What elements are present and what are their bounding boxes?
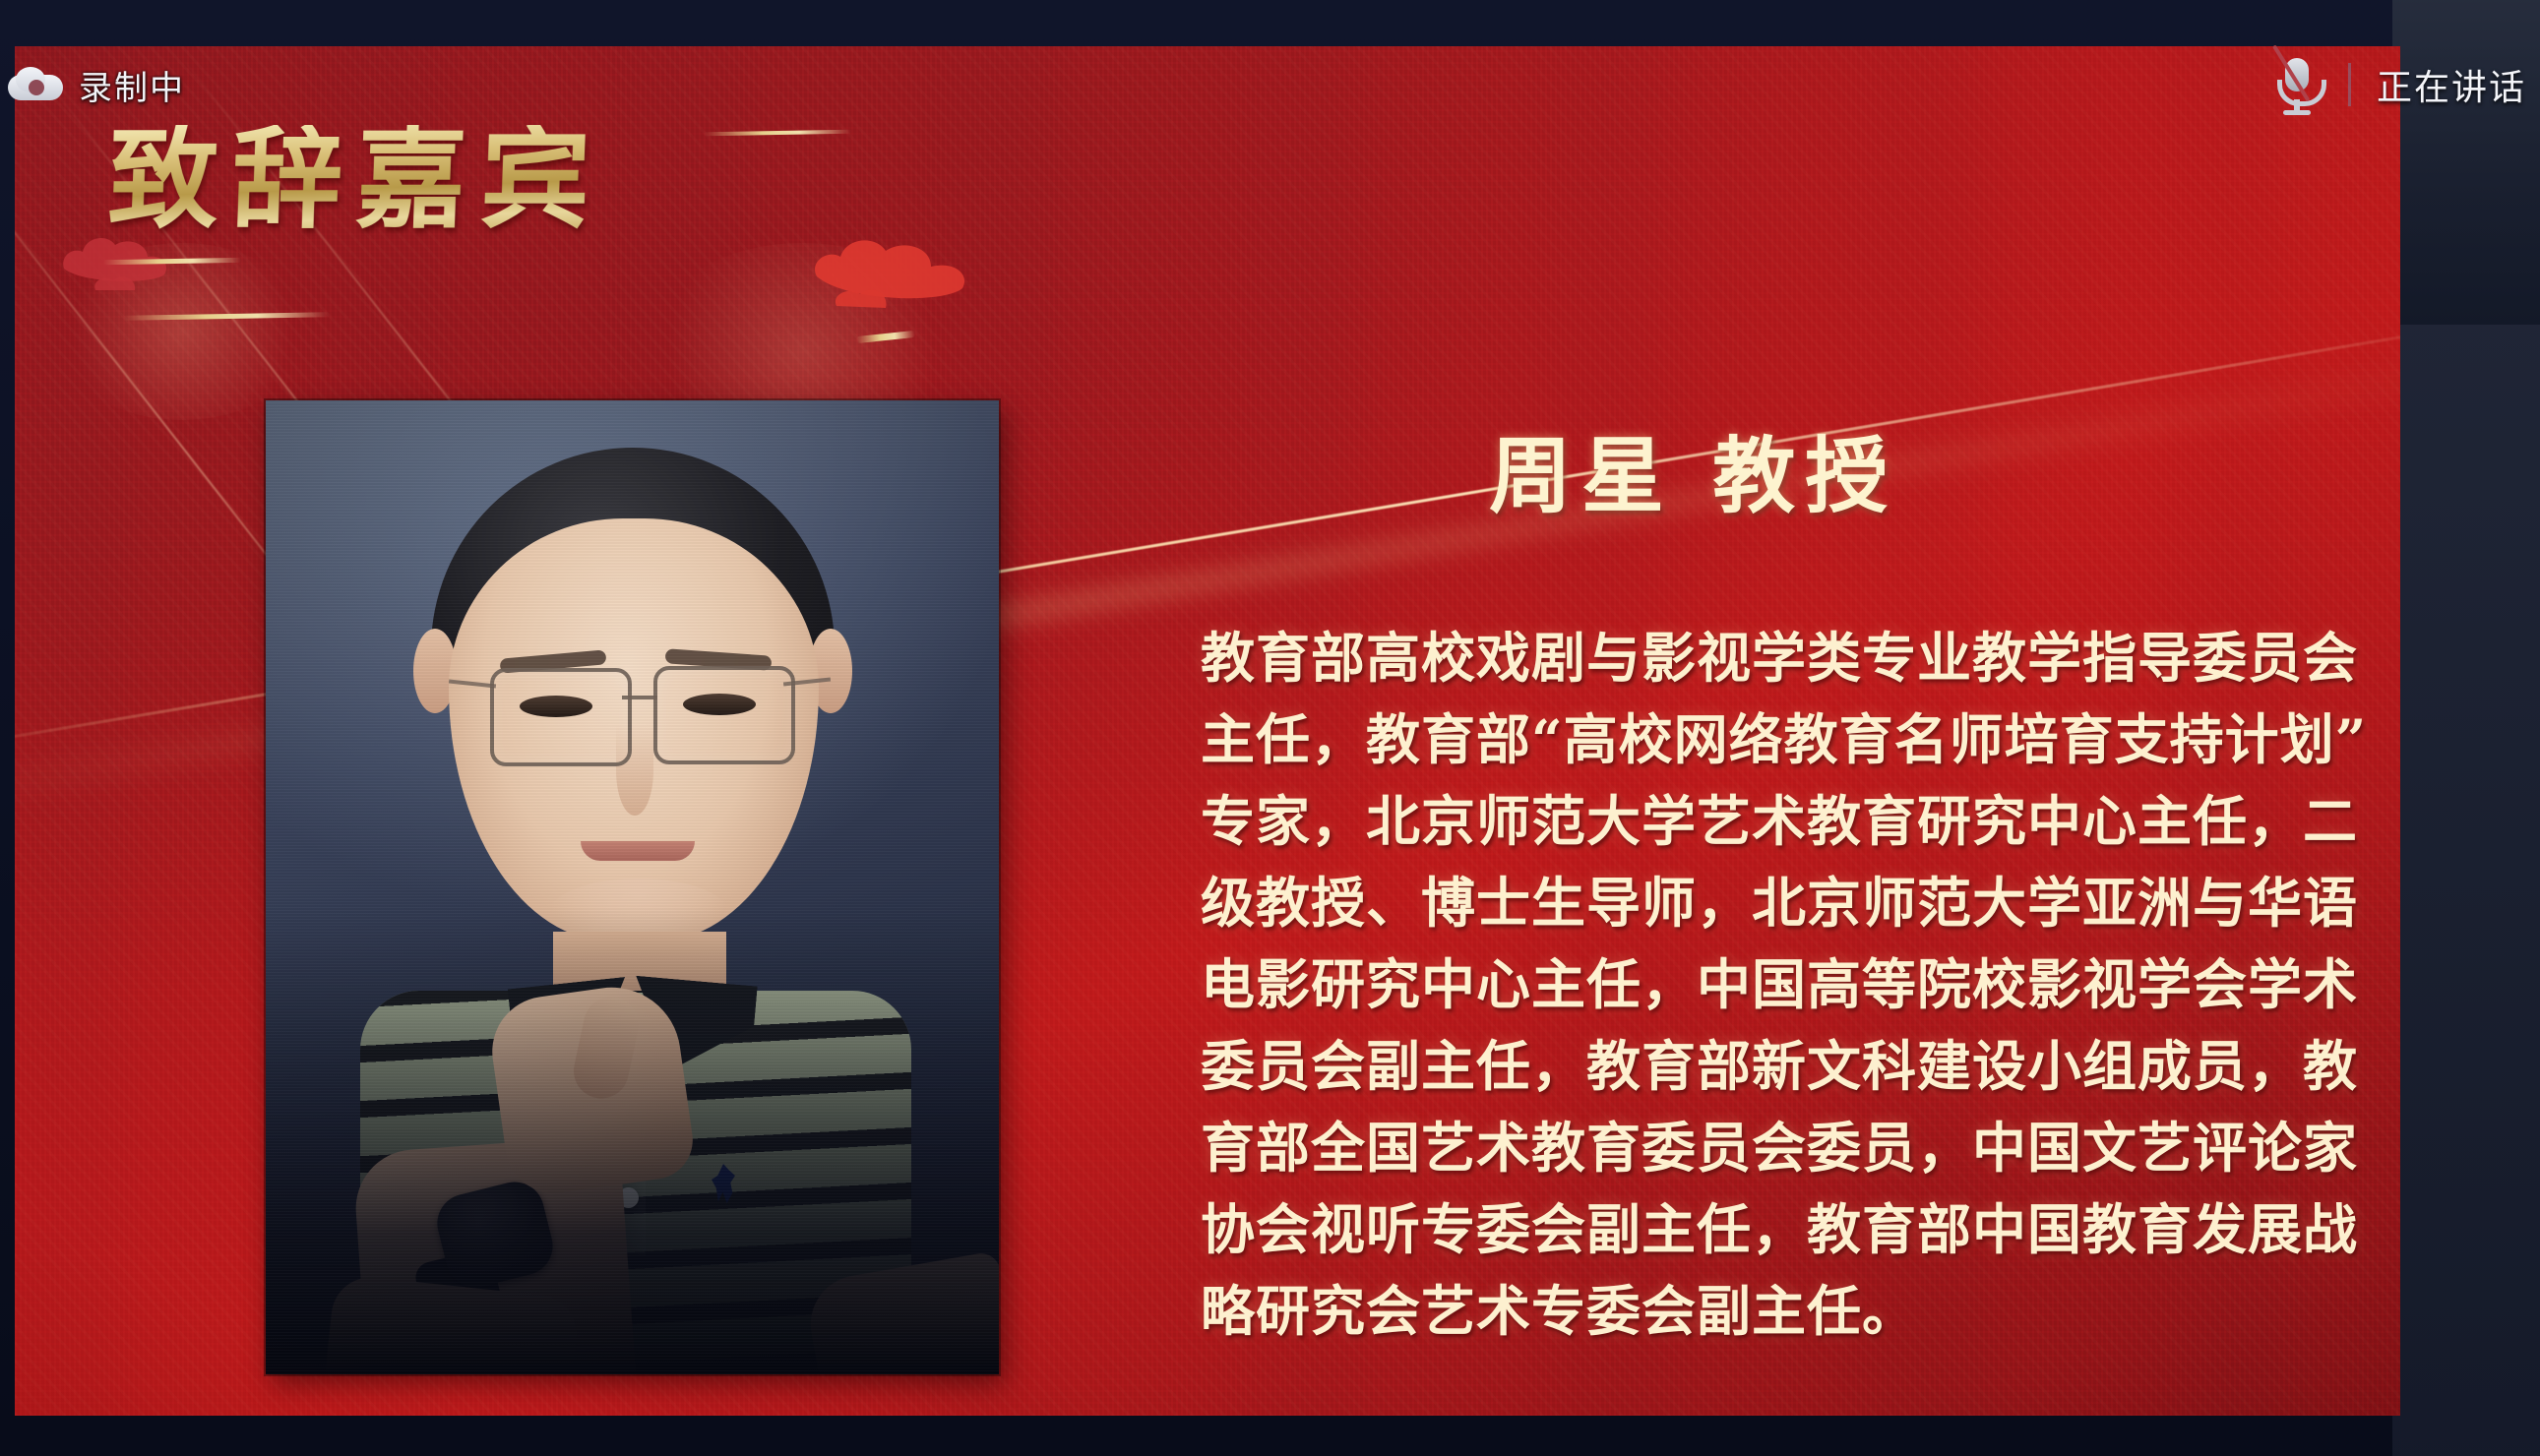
recording-indicator[interactable]: 录制中 [8,61,185,109]
indicator-divider [2348,63,2351,106]
active-speaker-indicator[interactable]: 正在讲话 [2238,41,2540,128]
presentation-slide: 致辞嘉宾 [15,46,2400,1416]
screenshot-root: 致辞嘉宾 [0,0,2540,1456]
speaking-label: 正在讲话 [2377,59,2526,110]
slide-vignette [15,46,2400,1416]
bezel-right-panel [2392,325,2540,1456]
microphone-muted-icon[interactable] [2271,54,2323,115]
cloud-recording-icon [8,67,63,104]
recording-label: 录制中 [79,61,185,109]
